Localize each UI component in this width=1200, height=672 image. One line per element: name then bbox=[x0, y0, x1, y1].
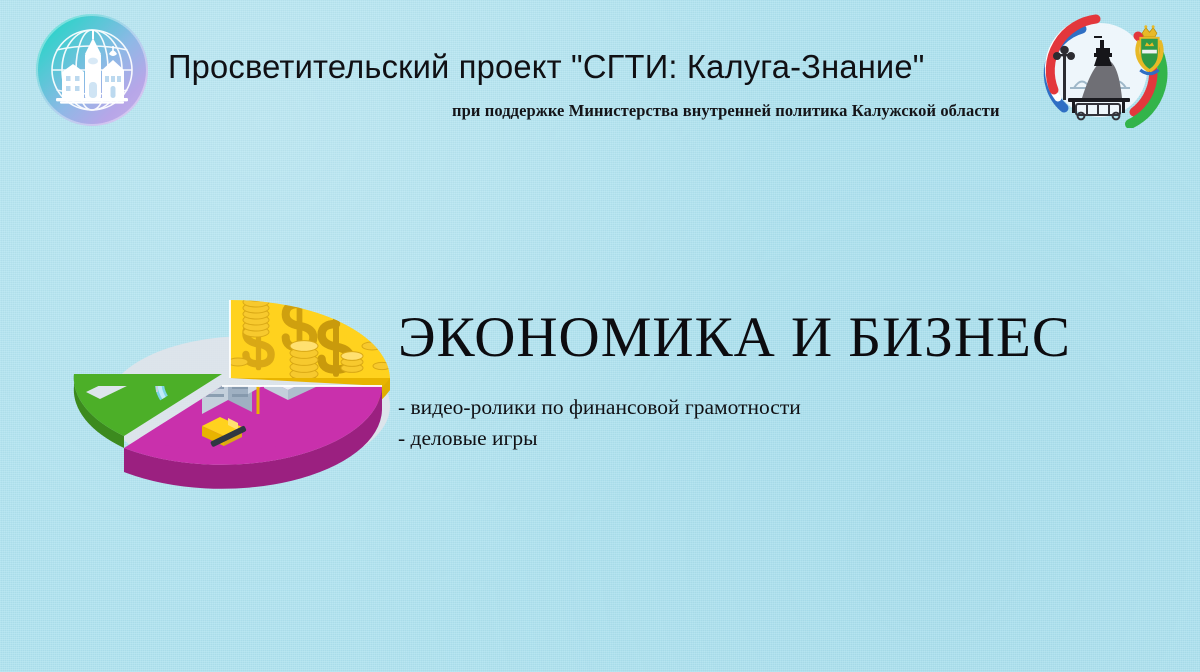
globe-buildings-emblem-icon bbox=[36, 14, 148, 126]
page-subtitle: при поддержке Министерства внутренней по… bbox=[452, 101, 1000, 121]
slide-header: Просветительский проект "СГТИ: Калуга-Зн… bbox=[0, 0, 1200, 140]
page-title: Просветительский проект "СГТИ: Калуга-Зн… bbox=[168, 48, 925, 86]
isometric-3d-pie-chart-icon bbox=[52, 238, 392, 493]
list-item: - деловые игры bbox=[398, 423, 801, 454]
bullet-list: - видео-ролики по финансовой грамотности… bbox=[398, 392, 801, 454]
main-heading: ЭКОНОМИКА И БИЗНЕС bbox=[398, 308, 1071, 368]
slide-canvas: Просветительский проект "СГТИ: Калуга-Зн… bbox=[0, 0, 1200, 672]
kaluga-region-emblem-icon bbox=[1034, 12, 1176, 128]
list-item: - видео-ролики по финансовой грамотности bbox=[398, 392, 801, 423]
